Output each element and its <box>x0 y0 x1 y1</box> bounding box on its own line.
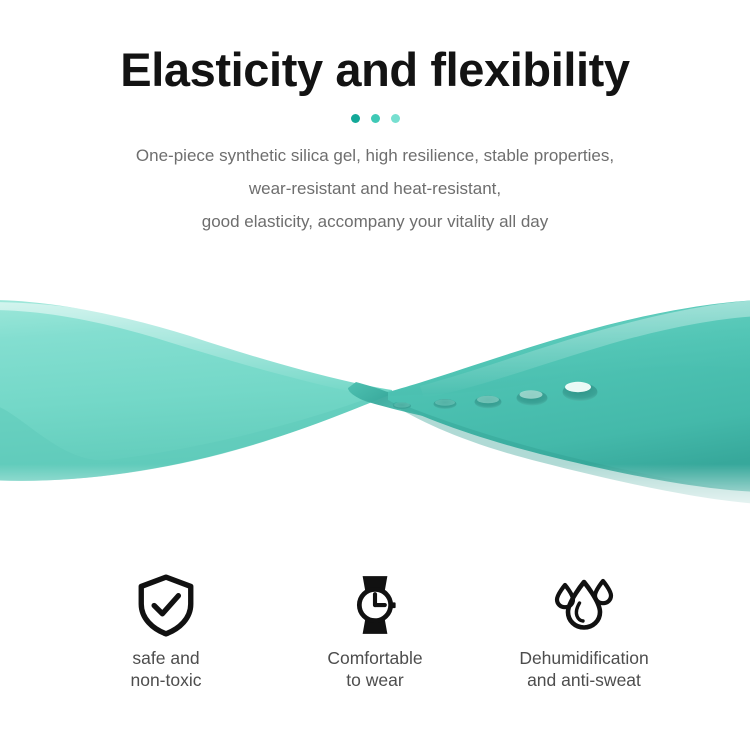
band-hole-2-highlight <box>435 399 455 405</box>
divider-dot-2 <box>371 114 380 123</box>
page-title: Elasticity and flexibility <box>0 0 750 97</box>
divider-dot-3 <box>391 114 400 123</box>
feature-label-safe-non-toxic: safe and non-toxic <box>130 647 201 691</box>
band-hole-1-highlight <box>394 402 410 407</box>
twisted-silicone-band-graphic <box>0 278 750 514</box>
shield-check-icon <box>133 572 199 638</box>
feature-label-dehumidification: Dehumidification and anti-sweat <box>519 647 648 691</box>
feature-row: safe and non-toxic <box>0 572 750 691</box>
feature-3-line-2: and anti-sweat <box>519 669 648 691</box>
product-feature-page: Elasticity and flexibility One-piece syn… <box>0 0 750 750</box>
feature-1-line-2: non-toxic <box>130 669 201 691</box>
band-bottom-fade <box>0 464 750 514</box>
feature-label-comfortable-to-wear: Comfortable to wear <box>327 647 422 691</box>
feature-1-line-1: safe and <box>130 647 201 669</box>
subtitle-line-2: wear-resistant and heat-resistant, <box>0 172 750 205</box>
feature-item-comfortable-to-wear: Comfortable to wear <box>275 572 475 691</box>
feature-item-dehumidification: Dehumidification and anti-sweat <box>484 572 684 691</box>
band-hole-4-highlight <box>520 390 543 398</box>
subtitle-line-3: good elasticity, accompany your vitality… <box>0 205 750 238</box>
wristwatch-icon <box>342 572 408 638</box>
header-section: Elasticity and flexibility One-piece syn… <box>0 0 750 238</box>
feature-3-line-1: Dehumidification <box>519 647 648 669</box>
feature-2-line-2: to wear <box>327 669 422 691</box>
product-image <box>0 278 750 514</box>
subtitle-paragraph: One-piece synthetic silica gel, high res… <box>0 123 750 238</box>
band-hole-3-highlight <box>477 396 499 404</box>
band-hole-5-highlight <box>565 382 591 392</box>
divider-dot-1 <box>351 114 360 123</box>
water-droplets-icon <box>549 572 619 638</box>
feature-item-safe-non-toxic: safe and non-toxic <box>66 572 266 691</box>
feature-2-line-1: Comfortable <box>327 647 422 669</box>
subtitle-line-1: One-piece synthetic silica gel, high res… <box>0 139 750 172</box>
divider-dots <box>0 114 750 123</box>
